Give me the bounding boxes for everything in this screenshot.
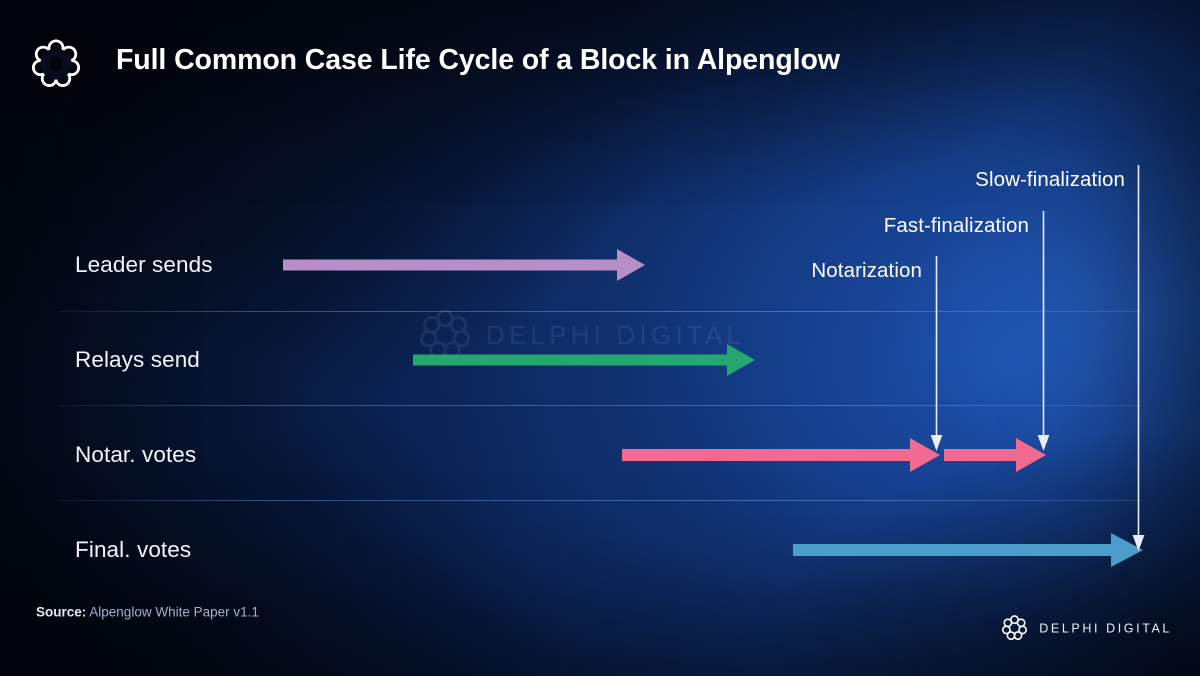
lane-label-relays-send: Relays send (75, 347, 200, 373)
page-title: Full Common Case Life Cycle of a Block i… (116, 44, 840, 77)
source-label: Source: (36, 605, 86, 620)
footer-brand-text: DELPHI DIGITAL (1039, 621, 1172, 635)
annotation-label-fast-finalization: Fast-finalization (884, 214, 1029, 238)
source-caption: Source: Alpenglow White Paper v1.1 (36, 605, 259, 620)
delphi-loop-logo-icon (30, 38, 82, 90)
lane-label-notar-votes: Notar. votes (75, 442, 196, 468)
lane-separator (60, 311, 1140, 312)
footer-loop-icon (1001, 615, 1028, 642)
timeline-arrow-final-votes (793, 532, 1143, 568)
source-text: Alpenglow White Paper v1.1 (89, 605, 259, 620)
slide-header: Full Common Case Life Cycle of a Block i… (0, 0, 1200, 120)
annotation-pointer-slow-finalization (1132, 165, 1145, 552)
timeline-arrow-leader-sends (283, 248, 645, 282)
timeline-arrow-notar-votes-1 (622, 437, 940, 473)
lane-label-leader-sends: Leader sends (75, 252, 213, 278)
lane-separator (60, 405, 1140, 406)
annotation-pointer-notarization (930, 256, 943, 452)
annotation-pointer-fast-finalization (1037, 211, 1050, 452)
slide-canvas: Full Common Case Life Cycle of a Block i… (0, 0, 1200, 676)
annotation-label-slow-finalization: Slow-finalization (975, 168, 1125, 192)
lane-label-final-votes: Final. votes (75, 537, 191, 563)
timeline-arrow-relays-send (413, 343, 755, 377)
lane-separator (60, 500, 1140, 501)
footer-brand: DELPHI DIGITAL (1001, 615, 1172, 642)
timeline-arrow-notar-votes-2 (944, 437, 1046, 473)
annotation-label-notarization: Notarization (811, 259, 922, 283)
